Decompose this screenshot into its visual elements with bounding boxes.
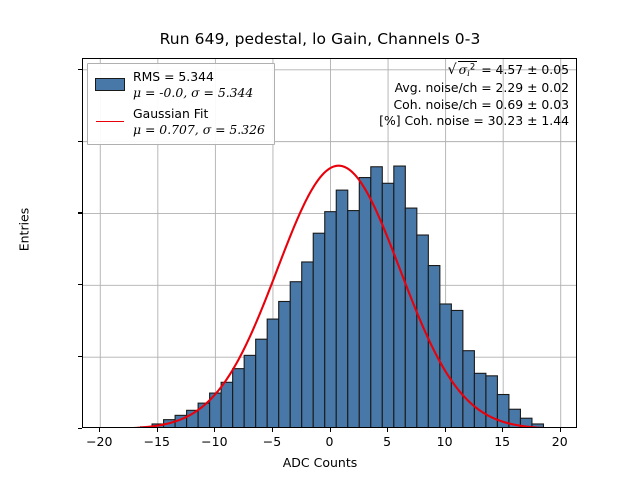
figure: Run 649, pedestal, lo Gain, Channels 0-3… [0, 0, 640, 480]
histogram-bar [371, 167, 383, 427]
histogram-bar [359, 178, 371, 427]
histogram-bar [382, 183, 394, 427]
histogram-bar [244, 355, 256, 427]
histogram-bar [302, 262, 314, 427]
histogram-bar [279, 301, 291, 427]
legend-line-icon [95, 121, 125, 122]
y-tick-mark [78, 356, 82, 357]
x-tick-mark [502, 428, 503, 432]
y-tick-mark [78, 212, 82, 213]
y-axis-label: Entries [17, 140, 32, 320]
annotation-line-coh-noise-pct: [%] Coh. noise = 30.23 ± 1.44 [379, 113, 569, 130]
x-tick-mark [445, 428, 446, 432]
plot-area: RMS = 5.344 μ = -0.0, σ = 5.344 Gaussian… [82, 58, 577, 428]
histogram-bar [451, 310, 463, 427]
chart-legend: RMS = 5.344 μ = -0.0, σ = 5.344 Gaussian… [87, 63, 275, 145]
chart-title: Run 649, pedestal, lo Gain, Channels 0-3 [0, 30, 640, 48]
histogram-bar [394, 166, 406, 427]
annotation-line-rms-sigma: σi2 = 4.57 ± 0.05 [379, 62, 569, 80]
x-tick-mark [330, 428, 331, 432]
histogram-bar [417, 235, 429, 427]
y-tick-mark [78, 284, 82, 285]
legend-patch-icon [95, 78, 125, 91]
histogram-bar [428, 266, 440, 427]
legend-item-gaussian-fit: Gaussian Fit μ = 0.707, σ = 5.326 [95, 106, 265, 138]
statistics-annotation: σi2 = 4.57 ± 0.05 Avg. noise/ch = 2.29 ±… [379, 62, 569, 130]
histogram-bar [233, 369, 245, 427]
y-tick-mark [78, 141, 82, 142]
histogram-bar [463, 351, 475, 427]
histogram-bar [325, 212, 337, 427]
histogram-bar [256, 339, 268, 427]
legend-item-histogram: RMS = 5.344 μ = -0.0, σ = 5.344 [95, 69, 265, 101]
x-tick-mark [99, 428, 100, 432]
x-tick-mark [387, 428, 388, 432]
x-tick-mark [560, 428, 561, 432]
histogram-bar [336, 190, 348, 427]
histogram-bar [405, 208, 417, 427]
histogram-bar [221, 382, 233, 427]
x-tick-mark [272, 428, 273, 432]
y-tick-mark [78, 428, 82, 429]
histogram-bar [290, 282, 302, 427]
histogram-bar [474, 373, 486, 427]
x-tick-mark [214, 428, 215, 432]
x-tick-mark [157, 428, 158, 432]
y-tick-mark [78, 69, 82, 70]
legend-label-gaussian-fit: Gaussian Fit μ = 0.707, σ = 5.326 [133, 106, 265, 138]
histogram-bar [313, 233, 325, 427]
annotation-line-avg-noise: Avg. noise/ch = 2.29 ± 0.02 [379, 80, 569, 97]
x-axis-label: ADC Counts [0, 455, 640, 470]
histogram-bar [348, 211, 360, 427]
legend-label-histogram: RMS = 5.344 μ = -0.0, σ = 5.344 [133, 69, 253, 101]
annotation-line-coh-noise: Coh. noise/ch = 0.69 ± 0.03 [379, 97, 569, 114]
histogram-bar [267, 319, 279, 427]
x-tick-label: 20 [520, 434, 600, 449]
